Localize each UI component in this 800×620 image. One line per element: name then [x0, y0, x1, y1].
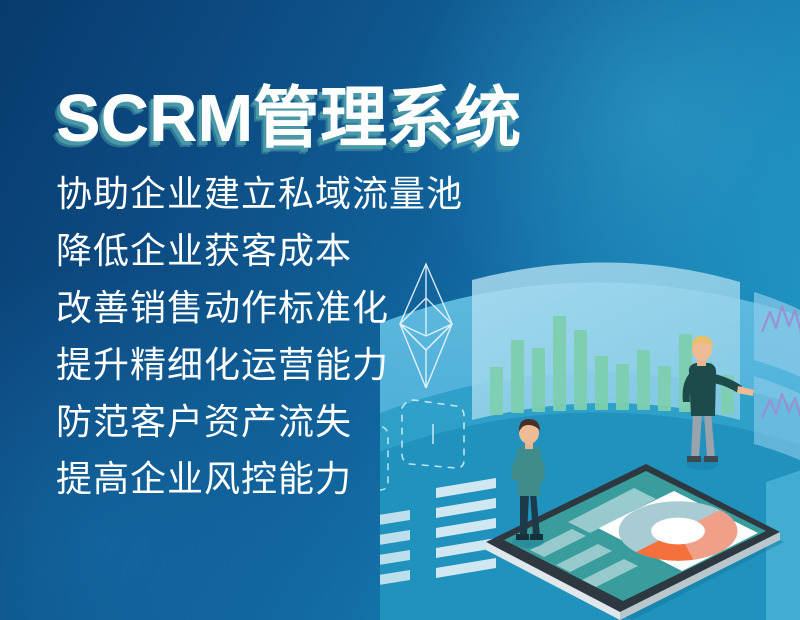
- list-item: 提升精细化运营能力: [56, 347, 526, 383]
- list-item: 提高企业风控能力: [56, 461, 526, 497]
- page-title: SCRM管理系统: [56, 84, 526, 154]
- feature-list: 协助企业建立私域流量池 降低企业获客成本 改善销售动作标准化 提升精细化运营能力…: [56, 176, 526, 497]
- list-item: 防范客户资产流失: [56, 404, 526, 440]
- scrm-promo-banner: SCRM管理系统 协助企业建立私域流量池 降低企业获客成本 改善销售动作标准化 …: [0, 0, 800, 620]
- list-item: 协助企业建立私域流量池: [56, 176, 526, 212]
- list-item: 改善销售动作标准化: [56, 290, 526, 326]
- banner-text-block: SCRM管理系统 协助企业建立私域流量池 降低企业获客成本 改善销售动作标准化 …: [56, 84, 526, 518]
- list-item: 降低企业获客成本: [56, 233, 526, 269]
